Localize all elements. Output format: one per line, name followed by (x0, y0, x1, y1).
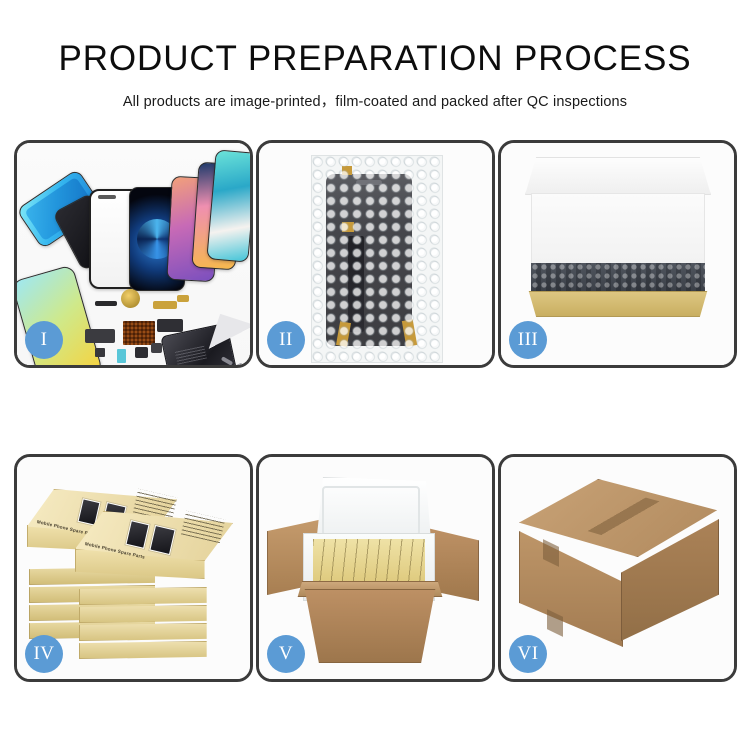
box-lid-icon (525, 157, 711, 195)
small-part-icon (151, 343, 162, 353)
header: PRODUCT PREPARATION PROCESS All products… (0, 0, 750, 111)
step-badge-6: VI (509, 635, 547, 673)
box-inner-lid-icon (531, 193, 705, 265)
carton-left-face-icon (519, 531, 623, 647)
kraft-box-front-icon (525, 291, 711, 317)
process-step-panel-6: VI (498, 454, 737, 682)
small-part-icon (95, 348, 105, 357)
process-step-panel-2: II (256, 140, 495, 368)
step-badge-2: II (267, 321, 305, 359)
step-badge-1: I (25, 321, 63, 359)
speaker-coil-icon (121, 289, 140, 308)
page-subtitle: All products are image-printed，film-coat… (0, 90, 750, 111)
gold-connector-icon (177, 295, 189, 302)
screen-flex-cable-icon (348, 236, 364, 332)
process-step-grid: I II (14, 140, 736, 685)
battery-icon (117, 349, 126, 363)
carton-front-icon (299, 589, 441, 663)
bubble-wrap-fill-icon (531, 263, 705, 293)
page-title: PRODUCT PREPARATION PROCESS (0, 40, 750, 78)
circuit-board-icon (123, 321, 155, 345)
packed-boxes-icon (313, 539, 425, 587)
step-badge-3: III (509, 321, 547, 359)
flex-cable-icon (157, 319, 183, 332)
bubble-wrap-bag-icon (311, 155, 443, 363)
camera-module-icon (135, 347, 148, 358)
step-badge-4: IV (25, 635, 63, 673)
product-preparation-infographic: PRODUCT PREPARATION PROCESS All products… (0, 0, 750, 750)
chip-icon (95, 301, 117, 306)
wrapped-screen-icon (326, 174, 412, 346)
process-step-panel-3: III (498, 140, 737, 368)
step-badge-5: V (267, 635, 305, 673)
gold-contact-icon (342, 166, 352, 175)
process-step-panel-4: Mobile Phone Spare Parts Mobile Phone Sp… (14, 454, 253, 682)
gold-contact-icon (342, 222, 354, 232)
process-step-panel-1: I (14, 140, 253, 368)
flex-cable-icon (85, 329, 115, 343)
process-step-panel-5: V (256, 454, 495, 682)
gold-connector-icon (153, 301, 177, 309)
